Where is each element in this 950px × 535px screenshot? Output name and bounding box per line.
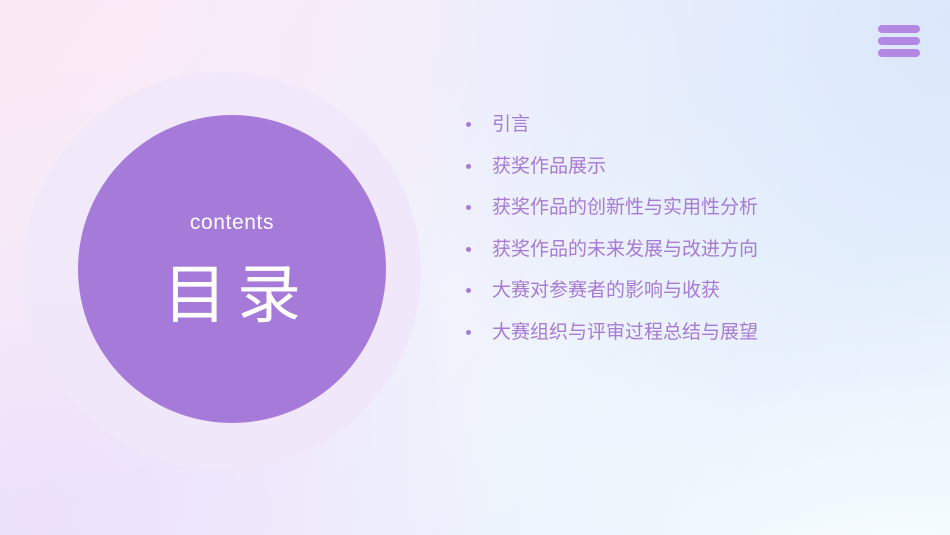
contents-eyebrow-label: contents bbox=[190, 212, 274, 233]
toc-item-1[interactable]: 引言 bbox=[466, 104, 906, 146]
hamburger-menu-icon[interactable] bbox=[878, 22, 920, 60]
bullet-icon bbox=[466, 122, 471, 127]
toc-item-label: 大赛对参赛者的影响与收获 bbox=[492, 281, 720, 300]
hamburger-bar-2 bbox=[878, 37, 920, 45]
toc-item-4[interactable]: 获奖作品的未来发展与改进方向 bbox=[466, 229, 906, 271]
bullet-icon bbox=[466, 247, 471, 252]
contents-title: 目录 bbox=[153, 263, 311, 327]
bullet-icon bbox=[466, 164, 471, 169]
toc-item-2[interactable]: 获奖作品展示 bbox=[466, 146, 906, 188]
hamburger-bar-3 bbox=[878, 49, 920, 57]
toc-item-5[interactable]: 大赛对参赛者的影响与收获 bbox=[466, 270, 906, 312]
toc-item-label: 大赛组织与评审过程总结与展望 bbox=[492, 323, 758, 342]
bullet-icon bbox=[466, 205, 471, 210]
toc-item-3[interactable]: 获奖作品的创新性与实用性分析 bbox=[466, 187, 906, 229]
bullet-icon bbox=[466, 288, 471, 293]
toc-item-label: 引言 bbox=[492, 115, 530, 134]
presentation-slide: contents 目录 引言 获奖作品展示 获奖作品的创新性与实用性分析 获奖作… bbox=[0, 0, 950, 535]
toc-item-label: 获奖作品的创新性与实用性分析 bbox=[492, 198, 758, 217]
toc-item-6[interactable]: 大赛组织与评审过程总结与展望 bbox=[466, 312, 906, 354]
toc-item-label: 获奖作品展示 bbox=[492, 157, 606, 176]
contents-circle: contents 目录 bbox=[78, 115, 386, 423]
table-of-contents-list: 引言 获奖作品展示 获奖作品的创新性与实用性分析 获奖作品的未来发展与改进方向 … bbox=[466, 104, 906, 353]
bullet-icon bbox=[466, 330, 471, 335]
hamburger-bar-1 bbox=[878, 25, 920, 33]
toc-item-label: 获奖作品的未来发展与改进方向 bbox=[492, 240, 758, 259]
